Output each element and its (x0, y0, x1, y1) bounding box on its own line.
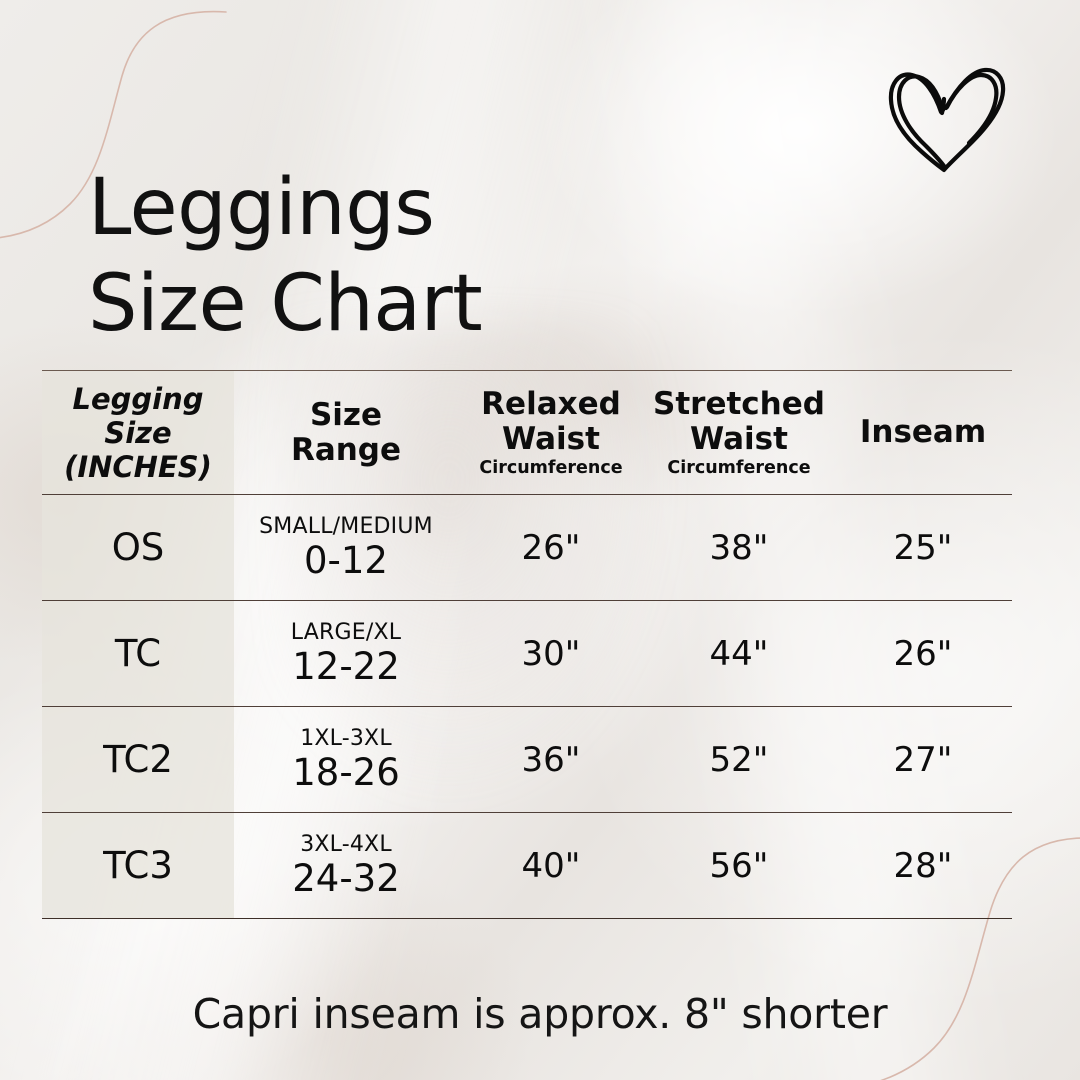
heart-doodle-icon (884, 58, 1014, 176)
cell-size-range-numbers: 24-32 (236, 858, 456, 900)
header-size-range: Size Range (234, 371, 458, 495)
cell-size-range-label: 3XL-4XL (236, 832, 456, 858)
cell-relaxed-waist: 30" (458, 601, 644, 707)
header-legging-size-unit: (INCHES) (44, 450, 232, 484)
cell-inseam: 25" (834, 495, 1012, 601)
cell-stretched-waist: 52" (644, 707, 834, 813)
size-chart-table: Legging Size (INCHES) Size Range Relaxed… (42, 370, 1012, 919)
table-header-row: Legging Size (INCHES) Size Range Relaxed… (42, 371, 1012, 495)
header-legging-size: Legging Size (INCHES) (42, 371, 234, 495)
header-stretched-waist-sub: Circumference (646, 458, 832, 478)
cell-legging-size: TC (42, 601, 234, 707)
cell-size-range-label: SMALL/MEDIUM (236, 514, 456, 540)
header-relaxed-waist-line-1: Relaxed (460, 387, 642, 422)
cell-size-range-numbers: 12-22 (236, 646, 456, 688)
header-size-range-line-1: Size (236, 398, 456, 433)
header-relaxed-waist-sub: Circumference (460, 458, 642, 478)
header-inseam: Inseam (834, 371, 1012, 495)
cell-inseam: 27" (834, 707, 1012, 813)
cell-size-range-label: 1XL-3XL (236, 726, 456, 752)
cell-stretched-waist: 56" (644, 813, 834, 919)
table-row: TCLARGE/XL12-2230"44"26" (42, 601, 1012, 707)
cell-size-range: 1XL-3XL18-26 (234, 707, 458, 813)
header-legging-size-label: Legging Size (44, 382, 232, 450)
cell-legging-size: TC3 (42, 813, 234, 919)
cell-legging-size: OS (42, 495, 234, 601)
cell-size-range-label: LARGE/XL (236, 620, 456, 646)
cell-stretched-waist: 38" (644, 495, 834, 601)
header-stretched-waist-line-2: Waist (646, 422, 832, 457)
table-row: TC33XL-4XL24-3240"56"28" (42, 813, 1012, 919)
cell-legging-size: TC2 (42, 707, 234, 813)
header-relaxed-waist-line-2: Waist (460, 422, 642, 457)
cell-size-range-numbers: 0-12 (236, 540, 456, 582)
table-row: OSSMALL/MEDIUM0-1226"38"25" (42, 495, 1012, 601)
cell-size-range: SMALL/MEDIUM0-12 (234, 495, 458, 601)
cell-relaxed-waist: 36" (458, 707, 644, 813)
cell-size-range: 3XL-4XL24-32 (234, 813, 458, 919)
header-stretched-waist-line-1: Stretched (646, 387, 832, 422)
cell-relaxed-waist: 26" (458, 495, 644, 601)
title-line-1: Leggings (88, 160, 482, 256)
footer-note: Capri inseam is approx. 8" shorter (0, 990, 1080, 1038)
cell-size-range: LARGE/XL12-22 (234, 601, 458, 707)
cell-size-range-numbers: 18-26 (236, 752, 456, 794)
cell-inseam: 28" (834, 813, 1012, 919)
header-size-range-line-2: Range (236, 433, 456, 468)
cell-stretched-waist: 44" (644, 601, 834, 707)
page-title: Leggings Size Chart (88, 160, 482, 352)
title-line-2: Size Chart (88, 256, 482, 352)
cell-relaxed-waist: 40" (458, 813, 644, 919)
header-relaxed-waist: Relaxed Waist Circumference (458, 371, 644, 495)
header-stretched-waist: Stretched Waist Circumference (644, 371, 834, 495)
table-row: TC21XL-3XL18-2636"52"27" (42, 707, 1012, 813)
cell-inseam: 26" (834, 601, 1012, 707)
header-inseam-label: Inseam (836, 415, 1010, 450)
